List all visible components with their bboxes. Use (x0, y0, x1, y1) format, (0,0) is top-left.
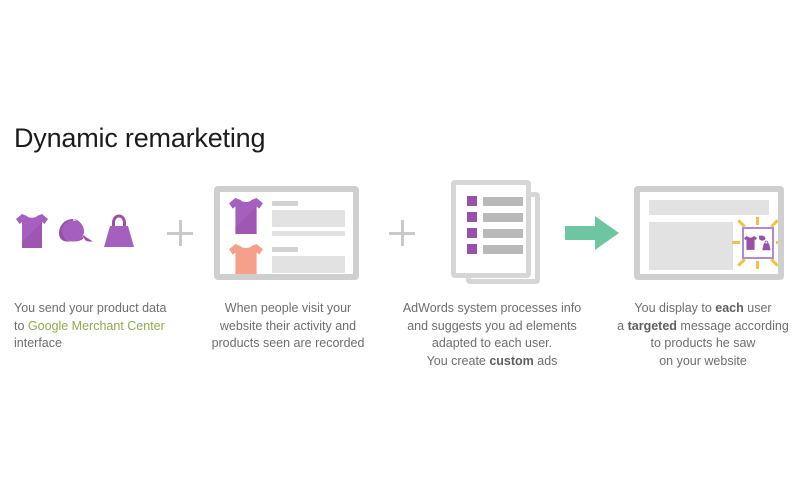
list-bullet-icon (467, 212, 477, 222)
ad-elements-list (467, 196, 523, 260)
listing-body-bar (272, 256, 345, 273)
caption-emphasis: each (715, 301, 744, 315)
cap-icon (59, 219, 93, 247)
listing-title-bar (272, 201, 298, 206)
document-stack-icon (448, 180, 548, 286)
sparkle-rays-icon (732, 217, 784, 269)
caption-line: You create (427, 354, 490, 368)
plus-icon (389, 220, 415, 246)
caption-line: You send your product data (14, 301, 166, 315)
caption-emphasis: custom (489, 354, 533, 368)
caption-line: to (14, 319, 28, 333)
list-text-bar (483, 229, 523, 238)
caption-line: adapted to each user. (432, 336, 552, 350)
tshirt-icon (16, 214, 48, 253)
display-window-icon (634, 186, 784, 280)
product-listing-row (229, 244, 345, 280)
handbag-icon (104, 214, 134, 252)
step-display-ad (634, 178, 784, 288)
caption-adwords: AdWords system processes info and sugges… (392, 300, 592, 370)
list-bullet-icon (467, 196, 477, 206)
arrow-right-icon (565, 216, 619, 250)
tshirt-purple-icon (229, 198, 263, 239)
caption-line: user (744, 301, 772, 315)
list-item (467, 228, 523, 238)
caption-line: products seen are recorded (212, 336, 365, 350)
caption-line: message according (677, 319, 789, 333)
highlighted-ad-icon[interactable] (742, 227, 774, 259)
caption-display-ad: You display to each user a targeted mess… (608, 300, 798, 370)
caption-products: You send your product data to Google Mer… (14, 300, 199, 353)
caption-line: to products he saw (651, 336, 756, 350)
listing-title-bar (272, 247, 298, 252)
arrow-separator (556, 178, 628, 288)
list-text-bar (483, 213, 523, 222)
plus-separator-1 (155, 178, 205, 288)
step-website (214, 178, 359, 288)
page-title: Dynamic remarketing (14, 123, 265, 154)
product-listing-row (229, 198, 345, 239)
page-header-bar (649, 200, 769, 215)
caption-website: When people visit your website their act… (198, 300, 378, 353)
page-content-bar (649, 222, 733, 270)
caption-line: AdWords system processes info (403, 301, 581, 315)
google-merchant-center-link[interactable]: Google Merchant Center (28, 319, 165, 333)
caption-line: a (617, 319, 627, 333)
listing-meta-bar (272, 231, 345, 236)
list-bullet-icon (467, 244, 477, 254)
process-flow-diagram (0, 178, 800, 288)
browser-window-icon (214, 186, 359, 280)
list-text-bar (483, 197, 523, 206)
list-item (467, 212, 523, 222)
caption-line: interface (14, 336, 62, 350)
step-products (16, 178, 146, 288)
caption-line: and suggests you ad elements (407, 319, 577, 333)
list-text-bar (483, 245, 523, 254)
list-bullet-icon (467, 228, 477, 238)
caption-emphasis: targeted (628, 319, 677, 333)
caption-line: When people visit your (225, 301, 351, 315)
plus-icon (167, 220, 193, 246)
step-adwords-docs (443, 178, 553, 288)
tshirt-salmon-icon (229, 244, 263, 280)
list-item (467, 196, 523, 206)
document-front (451, 180, 531, 278)
listing-body-bar (272, 210, 345, 227)
list-item (467, 244, 523, 254)
caption-line: You display to (634, 301, 715, 315)
caption-line: on your website (659, 354, 747, 368)
caption-line: website their activity and (220, 319, 356, 333)
plus-separator-2 (372, 178, 432, 288)
caption-line: ads (534, 354, 558, 368)
